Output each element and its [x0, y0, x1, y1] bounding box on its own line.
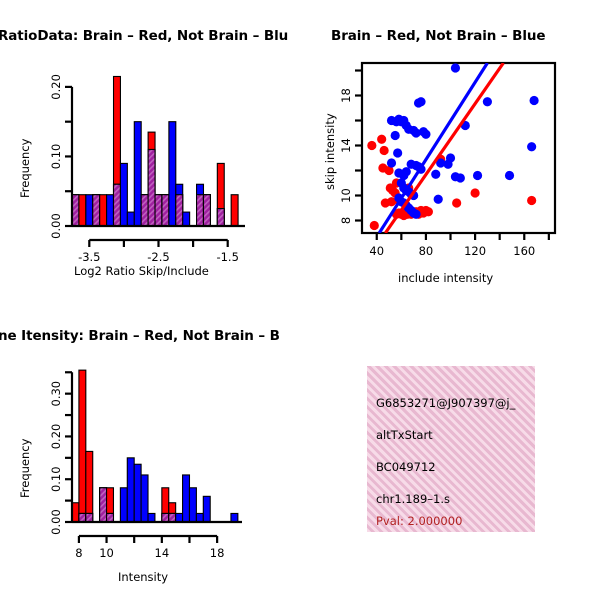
bar-overlap [148, 150, 155, 227]
histogram-bin [127, 212, 134, 226]
scatter-point [411, 210, 420, 219]
histogram-bin [169, 503, 176, 522]
annotation-line-1: G6853271@J907397@j_ [376, 396, 515, 410]
histogram-bin [141, 475, 148, 522]
y-tick-label: 0.20 [49, 74, 63, 100]
bar-not-brain [127, 212, 134, 226]
histogram-bin [176, 513, 183, 522]
y-tick-label: 0.10 [49, 466, 63, 492]
bar-overlap [169, 513, 176, 522]
histogram-bin [217, 163, 224, 226]
bar-not-brain [134, 464, 141, 522]
bar-overlap [114, 184, 121, 226]
bar-not-brain [196, 513, 203, 522]
bar-overlap [155, 195, 162, 226]
x-tick-label: 14 [155, 546, 170, 560]
scatter-point [456, 173, 465, 182]
x-tick-label: 120 [464, 244, 486, 258]
scatter-point [416, 97, 425, 106]
histogram-bin [155, 195, 162, 226]
y-tick-label: 18 [339, 88, 353, 103]
panel-top-right: Brain – Red, Not Brain – Blue skip inten… [300, 18, 600, 318]
histogram-bin [148, 513, 155, 522]
histogram-bin [120, 488, 127, 522]
histogram-bin [120, 163, 127, 226]
bar-not-brain [107, 195, 114, 226]
x-tick-label: -1.5 [216, 250, 238, 264]
bar-brain [79, 370, 86, 522]
histogram-bin [183, 475, 190, 522]
y-tick-label: 10 [339, 188, 353, 203]
x-tick-label: 40 [369, 244, 384, 258]
histogram-bin [169, 122, 176, 226]
bar-not-brain [148, 513, 155, 522]
x-tick-label: 10 [99, 546, 114, 560]
panel-bottom-right: G6853271@J907397@j_ altTxStart BC049712 … [300, 318, 600, 600]
scatter-point [377, 135, 386, 144]
scatter-point [393, 148, 402, 157]
histogram-bin [203, 195, 210, 226]
histogram-bin [107, 488, 114, 522]
gene-intensity-histogram-plot: 0.000.100.200.308101418 [0, 318, 300, 600]
bar-not-brain [127, 458, 134, 522]
log2-ratio-histogram-plot: 0.000.100.20-3.5-2.5-1.5 [0, 18, 300, 318]
histogram-bin [100, 195, 107, 226]
histogram-bin [162, 488, 169, 522]
histogram-bin [183, 212, 190, 226]
bar-not-brain [203, 496, 210, 522]
histogram-bin [231, 513, 238, 522]
x-tick-label: 80 [419, 244, 434, 258]
histogram-bin [79, 370, 86, 522]
bar-not-brain [176, 513, 183, 522]
annotation-text-clip: G6853271@J907397@j_ altTxStart BC049712 … [367, 366, 535, 532]
bar-overlap [197, 195, 204, 226]
scatter-point [452, 198, 461, 207]
histogram-bin [231, 195, 238, 226]
annotation-line-2: altTxStart [376, 428, 433, 442]
scatter-point [530, 96, 539, 105]
histogram-bin [134, 464, 141, 522]
scatter-point [483, 97, 492, 106]
bar-brain [79, 195, 86, 226]
bar-overlap [162, 513, 169, 522]
histogram-bin [189, 488, 196, 522]
x-tick-label: 8 [75, 546, 82, 560]
bar-overlap [141, 195, 148, 226]
bar-overlap [217, 209, 224, 226]
histogram-bin [127, 458, 134, 522]
scatter-series [367, 135, 536, 230]
scatter-point [367, 141, 376, 150]
bar-not-brain [141, 475, 148, 522]
bar-not-brain [183, 212, 190, 226]
scatter-point [380, 146, 389, 155]
bar-not-brain [120, 163, 127, 226]
histogram-bin [196, 513, 203, 522]
scatter-point [470, 188, 479, 197]
intensity-scatter-plot: 81014184080120160 [300, 18, 600, 318]
histogram-bin [79, 195, 86, 226]
bar-not-brain [189, 488, 196, 522]
histogram-bin [86, 451, 93, 522]
bar-overlap [107, 513, 114, 522]
scatter-point [391, 131, 400, 140]
y-tick-label: 0.20 [49, 424, 63, 450]
x-tick-label: -3.5 [78, 250, 100, 264]
histogram-bin [148, 132, 155, 226]
bar-not-brain [169, 122, 176, 226]
bar-not-brain [86, 195, 93, 226]
y-tick-label: 14 [339, 138, 353, 153]
bar-not-brain [231, 513, 238, 522]
plot-frame [362, 63, 555, 233]
panel-top-left: RatioData: Brain – Red, Not Brain – Blu … [0, 18, 300, 318]
x-tick-label: 160 [513, 244, 535, 258]
scatter-point [402, 167, 411, 176]
bar-overlap [203, 195, 210, 226]
histogram-bin [197, 184, 204, 226]
scatter-point [527, 142, 536, 151]
histogram-bin [141, 195, 148, 226]
histogram-bin [176, 184, 183, 226]
histogram-bin [134, 122, 141, 226]
bar-brain [100, 195, 107, 226]
histogram-bin [114, 76, 121, 226]
annotation-line-4: chr1.189–1.s [376, 492, 450, 506]
y-tick-label: 0.30 [49, 381, 63, 407]
bar-overlap [79, 513, 86, 522]
annotation-pval: Pval: 2.000000 [376, 514, 462, 528]
bar-overlap [86, 513, 93, 522]
scatter-point [434, 195, 443, 204]
bar-not-brain [120, 488, 127, 522]
bar-not-brain [183, 475, 190, 522]
histogram-bin [107, 195, 114, 226]
bar-not-brain [134, 122, 141, 226]
histogram-bin [86, 195, 93, 226]
figure-root: RatioData: Brain – Red, Not Brain – Blu … [0, 0, 600, 600]
y-tick-label: 0.10 [49, 144, 63, 170]
bar-overlap [93, 195, 100, 226]
scatter-point [505, 171, 514, 180]
fit-line [385, 63, 503, 233]
scatter-point [370, 221, 379, 230]
histogram-bin [162, 195, 169, 226]
bar-overlap [162, 195, 169, 226]
y-tick-label: 0.00 [49, 509, 63, 535]
scatter-point [446, 153, 455, 162]
bar-overlap [100, 488, 107, 522]
scatter-point [424, 207, 433, 216]
x-tick-label: 18 [210, 546, 225, 560]
scatter-point [473, 171, 482, 180]
bar-brain [231, 195, 238, 226]
annotation-line-3: BC049712 [376, 460, 436, 474]
scatter-point [387, 158, 396, 167]
y-tick-label: 0.00 [49, 213, 63, 239]
y-tick-label: 8 [339, 217, 353, 224]
histogram-bin [203, 496, 210, 522]
panel-bottom-left: ne Itensity: Brain – Red, Not Brain – B … [0, 318, 300, 600]
fit-line [379, 63, 487, 233]
x-tick-label: -2.5 [147, 250, 169, 264]
bar-overlap [176, 195, 183, 226]
scatter-point [527, 196, 536, 205]
bar-brain [86, 451, 93, 522]
scatter-point [421, 130, 430, 139]
scatter-point [431, 170, 440, 179]
histogram-bin [93, 195, 100, 226]
scatter-point [451, 63, 460, 72]
histogram-bin [100, 488, 107, 522]
